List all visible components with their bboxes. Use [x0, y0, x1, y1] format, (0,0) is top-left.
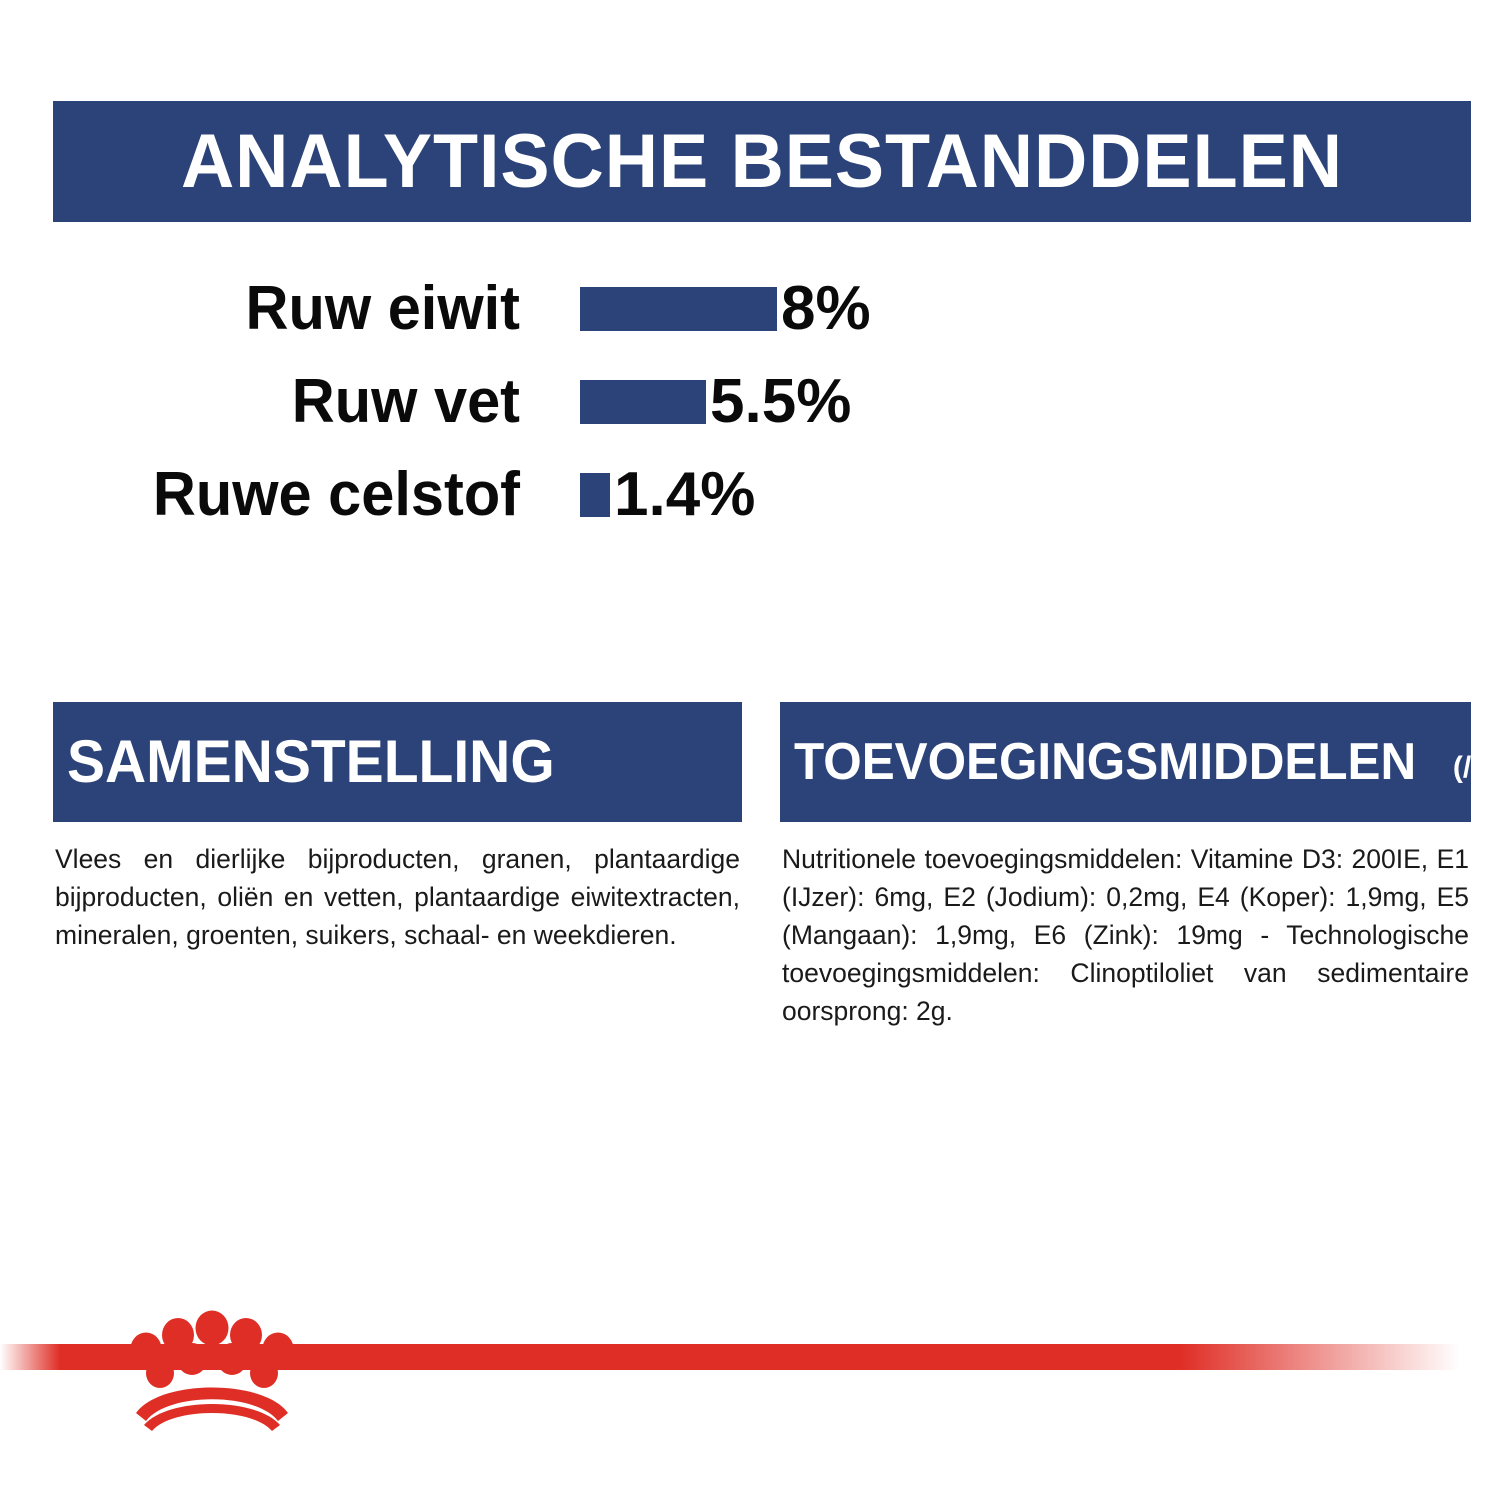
- nutrition-panel: ANALYTISCHE BESTANDDELEN Ruw eiwit 8% Ru…: [0, 0, 1500, 1500]
- constituent-value-crude-protein: 8%: [781, 278, 871, 340]
- analytical-constituents-chart: Ruw eiwit 8% Ruw vet 5.5% Ruwe celstof 1…: [0, 262, 1000, 541]
- page-title: ANALYTISCHE BESTANDDELEN: [181, 124, 1343, 200]
- constituent-bar-wrap: 8%: [580, 278, 871, 340]
- constituent-label-crude-protein: Ruw eiwit: [21, 278, 520, 340]
- section-header-samenstelling: SAMENSTELLING: [53, 702, 742, 822]
- section-samenstelling: SAMENSTELLING Vlees en dierlijke bijprod…: [53, 702, 742, 954]
- constituent-bar-wrap: 1.4%: [580, 464, 755, 526]
- constituent-bar-wrap: 5.5%: [580, 371, 851, 433]
- section-body-samenstelling: Vlees en dierlijke bijproducten, granen,…: [53, 840, 742, 954]
- constituent-label-crude-fibre: Ruwe celstof: [21, 464, 520, 526]
- section-title-unit-per-kg: (/kg): [1453, 753, 1500, 783]
- constituent-row: Ruw eiwit 8%: [0, 262, 1000, 355]
- constituent-bar-crude-fibre: [580, 473, 610, 517]
- section-header-toevoegingsmiddelen: TOEVOEGINGSMIDDELEN (/kg): [780, 702, 1471, 822]
- constituent-value-crude-fibre: 1.4%: [614, 464, 755, 526]
- constituent-value-crude-fat: 5.5%: [710, 371, 851, 433]
- constituent-bar-crude-protein: [580, 287, 777, 331]
- analytical-constituents-banner: ANALYTISCHE BESTANDDELEN: [53, 101, 1471, 222]
- constituent-label-crude-fat: Ruw vet: [21, 371, 520, 433]
- constituent-row: Ruw vet 5.5%: [0, 355, 1000, 448]
- section-toevoegingsmiddelen: TOEVOEGINGSMIDDELEN (/kg) Nutritionele t…: [780, 702, 1471, 1030]
- royal-canin-crown-logo: [122, 1297, 302, 1432]
- crown-icon: [122, 1297, 302, 1432]
- constituent-bar-crude-fat: [580, 380, 706, 424]
- constituent-row: Ruwe celstof 1.4%: [0, 448, 1000, 541]
- section-title-samenstelling: SAMENSTELLING: [67, 732, 555, 792]
- section-title-toevoegingsmiddelen: TOEVOEGINGSMIDDELEN: [794, 736, 1416, 788]
- section-body-toevoegingsmiddelen: Nutritionele toevoegingsmiddelen: Vitami…: [780, 840, 1471, 1030]
